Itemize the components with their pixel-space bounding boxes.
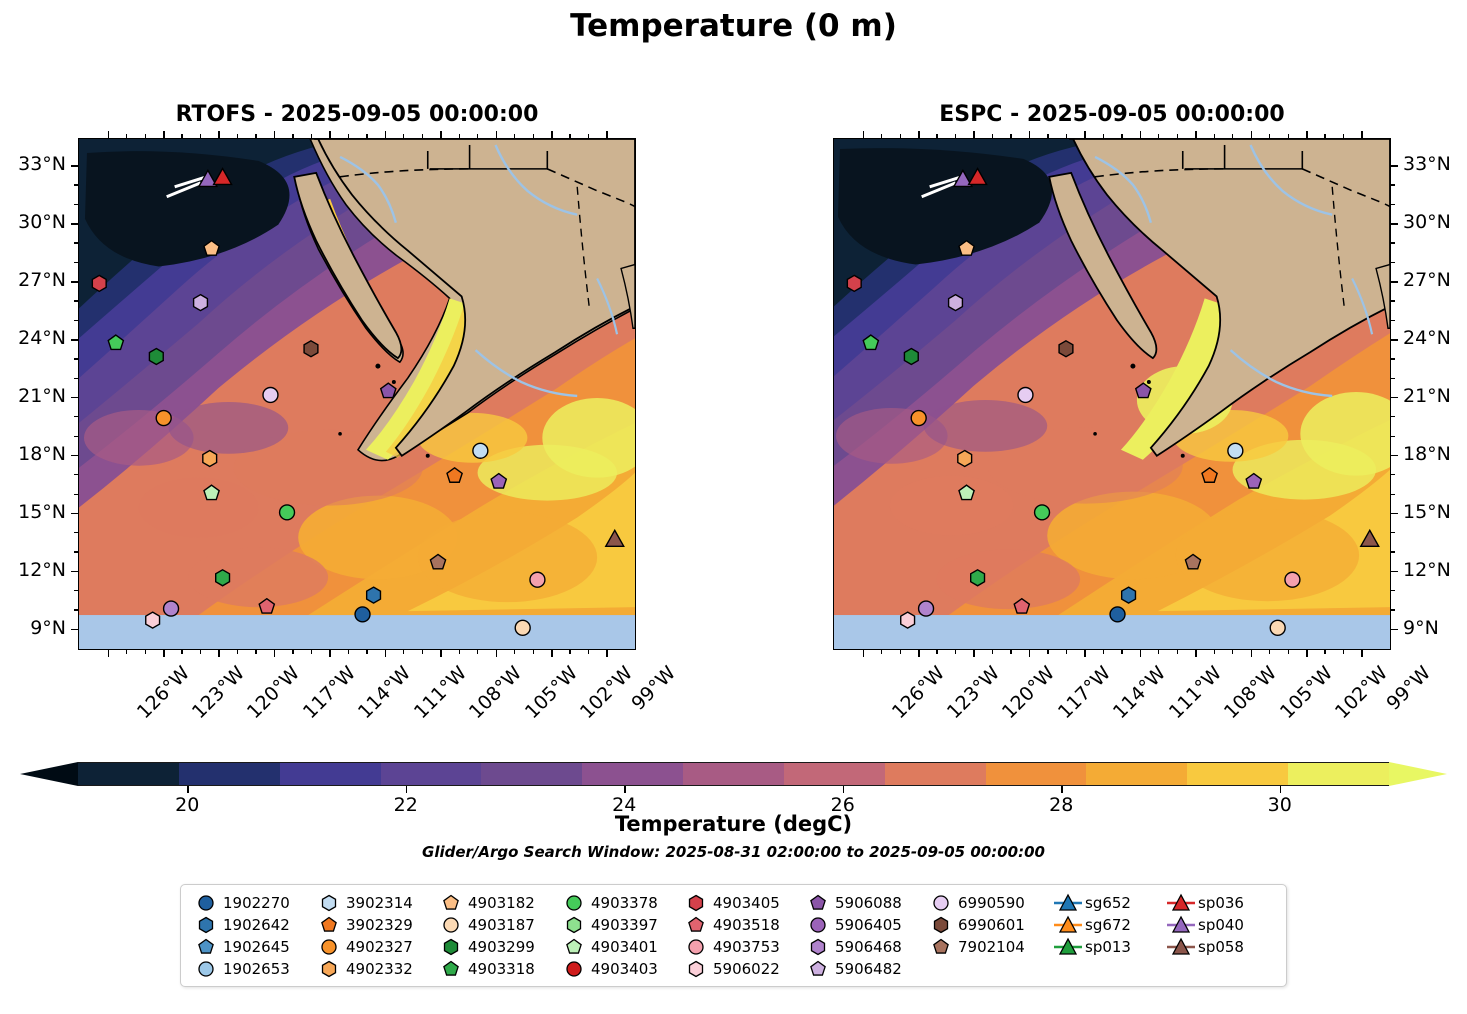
ytick-minor	[1391, 474, 1395, 475]
legend-entry-4903378[interactable]: 4903378	[559, 892, 658, 914]
xtick-minor	[126, 134, 127, 138]
xtick-minor	[1232, 650, 1233, 654]
legend-entry-5906468[interactable]: 5906468	[803, 936, 902, 958]
ytick-label: 33°N	[0, 153, 66, 175]
xtick-minor	[569, 134, 570, 138]
xtick-minor	[403, 650, 404, 654]
panel-rtofs: RTOFS - 2025-09-05 00:00:00	[78, 138, 636, 650]
legend-entry-4902332[interactable]: 4902332	[314, 958, 413, 980]
legend-entry-sp013[interactable]: sp013	[1053, 936, 1131, 958]
xtick-minor	[200, 134, 201, 138]
xtick-label: 111°W	[1165, 662, 1226, 723]
ytick-label: 21°N	[1403, 385, 1451, 407]
xtick-label: 114°W	[1109, 662, 1170, 723]
xtick-minor	[477, 650, 478, 654]
legend-entry-sg672[interactable]: sg672	[1053, 914, 1131, 936]
xtick-major	[973, 650, 975, 657]
xtick-label: 108°W	[465, 662, 526, 723]
legend-column: 4903378490339749034014903403	[559, 892, 658, 980]
ytick-minor	[1391, 494, 1395, 495]
xtick-label: 126°W	[887, 662, 948, 723]
ytick-minor	[1391, 590, 1395, 591]
legend-column: sp036sp040sp058	[1166, 892, 1244, 958]
legend-marker-icon	[559, 914, 589, 936]
legend-entry-1902653[interactable]: 1902653	[191, 958, 290, 980]
xtick-minor	[936, 134, 937, 138]
xtick-minor	[955, 134, 956, 138]
legend-marker-icon	[681, 936, 711, 958]
xtick-major	[274, 131, 276, 138]
legend-label: sg672	[1083, 916, 1131, 934]
legend-column: 4903182490318749032994903318	[436, 892, 535, 980]
legend-entry-5906022[interactable]: 5906022	[681, 958, 780, 980]
legend-marker-icon	[1166, 936, 1196, 958]
ytick-major	[1391, 513, 1398, 515]
xtick-minor	[311, 650, 312, 654]
legend-label: 4902332	[344, 960, 413, 978]
ytick-major	[1391, 629, 1398, 631]
xtick-minor	[255, 650, 256, 654]
ytick-label: 15°N	[1403, 501, 1451, 523]
legend-marker-icon	[803, 936, 833, 958]
ytick-major	[71, 223, 78, 225]
ytick-label: 15°N	[0, 501, 66, 523]
xtick-label: 123°W	[943, 662, 1004, 723]
xtick-minor	[1066, 134, 1067, 138]
legend-column: sg652sg672sp013	[1053, 892, 1131, 958]
legend-marker-icon	[191, 958, 221, 980]
xtick-minor	[237, 650, 238, 654]
xtick-minor	[422, 134, 423, 138]
xtick-minor	[533, 650, 534, 654]
colorbar-outline	[78, 762, 1389, 786]
xtick-minor	[459, 134, 460, 138]
xtick-major	[606, 131, 608, 138]
legend-entry-sp058[interactable]: sp058	[1166, 936, 1244, 958]
ytick-major	[71, 571, 78, 573]
legend-entry-3902329[interactable]: 3902329	[314, 914, 413, 936]
xtick-major	[1361, 650, 1363, 657]
ytick-minor	[1391, 609, 1395, 610]
xtick-minor	[1010, 650, 1011, 654]
legend-label: 1902645	[221, 938, 290, 956]
xtick-major	[496, 131, 498, 138]
legend-column: 5906088590640559064685906482	[803, 892, 902, 980]
panel-title-rtofs: RTOFS - 2025-09-05 00:00:00	[78, 102, 636, 127]
xtick-major	[918, 131, 920, 138]
ytick-minor	[1391, 204, 1395, 205]
ytick-minor	[1391, 300, 1395, 301]
colorbar-extend-low	[20, 762, 78, 786]
legend-marker-icon	[681, 958, 711, 980]
xtick-major	[218, 131, 220, 138]
colorbar-tick	[406, 786, 407, 793]
legend-marker-icon	[314, 914, 344, 936]
panel-espc: ESPC - 2025-09-05 00:00:00	[833, 138, 1391, 650]
ytick-label: 12°N	[1403, 559, 1451, 581]
xtick-major	[1029, 131, 1031, 138]
map-raster-espc	[834, 139, 1390, 649]
xtick-major	[108, 131, 110, 138]
legend-marker-icon	[926, 936, 956, 958]
xtick-minor	[1010, 134, 1011, 138]
ytick-label: 21°N	[0, 385, 66, 407]
colorbar-tick	[843, 786, 844, 793]
xtick-minor	[881, 134, 882, 138]
xtick-minor	[1121, 650, 1122, 654]
xtick-major	[1195, 650, 1197, 657]
xtick-minor	[1177, 134, 1178, 138]
xtick-minor	[348, 134, 349, 138]
legend-marker-icon	[1053, 892, 1083, 914]
xtick-minor	[1214, 650, 1215, 654]
ytick-major	[71, 165, 78, 167]
xtick-major	[163, 650, 165, 657]
colorbar-label: Temperature (degC)	[0, 812, 1467, 836]
legend-label: sg652	[1083, 894, 1131, 912]
ytick-minor	[74, 474, 78, 475]
legend-entry-4903405[interactable]: 4903405	[681, 892, 780, 914]
xtick-minor	[992, 134, 993, 138]
legend-marker-icon	[803, 914, 833, 936]
xtick-major	[218, 650, 220, 657]
legend-label: 1902642	[221, 916, 290, 934]
legend-marker-icon	[803, 958, 833, 980]
legend-entry-5906088[interactable]: 5906088	[803, 892, 902, 914]
ytick-label: 27°N	[1403, 269, 1451, 291]
legend-marker-icon	[803, 892, 833, 914]
xtick-minor	[1288, 134, 1289, 138]
colorbar: 202224262830	[0, 757, 1467, 857]
legend-entry-4903401[interactable]: 4903401	[559, 936, 658, 958]
xtick-minor	[936, 650, 937, 654]
xtick-minor	[588, 134, 589, 138]
ytick-major	[71, 629, 78, 631]
ytick-minor	[1391, 532, 1395, 533]
ytick-label: 24°N	[0, 327, 66, 349]
xtick-label: 102°W	[1331, 662, 1392, 723]
ytick-minor	[74, 320, 78, 321]
legend-entry-4903299[interactable]: 4903299	[436, 936, 535, 958]
ytick-label: 33°N	[1403, 153, 1451, 175]
legend-entry-sp040[interactable]: sp040	[1166, 914, 1244, 936]
legend-column: 699059069906017902104	[926, 892, 1025, 958]
ytick-major	[1391, 571, 1398, 573]
ytick-minor	[1391, 184, 1395, 185]
legend-entry-4903397[interactable]: 4903397	[559, 914, 658, 936]
ytick-minor	[74, 532, 78, 533]
xtick-minor	[992, 650, 993, 654]
xtick-minor	[514, 650, 515, 654]
xtick-minor	[1121, 134, 1122, 138]
ytick-minor	[1391, 242, 1395, 243]
xtick-major	[163, 131, 165, 138]
ytick-major	[71, 339, 78, 341]
xtick-minor	[1177, 650, 1178, 654]
xtick-major	[108, 650, 110, 657]
xtick-major	[440, 131, 442, 138]
xtick-minor	[1232, 134, 1233, 138]
figure-title: Temperature (0 m)	[0, 8, 1467, 44]
legend-label: 5906482	[833, 960, 902, 978]
legend-marker-icon	[1053, 914, 1083, 936]
xtick-minor	[588, 650, 589, 654]
legend-label: sp040	[1196, 916, 1244, 934]
legend-entry-4903753[interactable]: 4903753	[681, 936, 780, 958]
xtick-major	[1361, 131, 1363, 138]
legend-label: 6990601	[956, 916, 1025, 934]
legend-label: 4903518	[711, 916, 780, 934]
xtick-label: 117°W	[299, 662, 360, 723]
xtick-label: 105°W	[520, 662, 581, 723]
legend-entry-1902270[interactable]: 1902270	[191, 892, 290, 914]
xtick-label: 117°W	[1054, 662, 1115, 723]
ytick-minor	[1391, 262, 1395, 263]
xtick-label: 105°W	[1275, 662, 1336, 723]
ytick-major	[1391, 281, 1398, 283]
colorbar-tick	[1061, 786, 1062, 793]
ytick-major	[1391, 165, 1398, 167]
legend-label: 4903401	[589, 938, 658, 956]
xtick-label: 102°W	[576, 662, 637, 723]
xtick-label: 120°W	[243, 662, 304, 723]
xtick-major	[1306, 650, 1308, 657]
legend-label: 1902653	[221, 960, 290, 978]
legend-label: 5906088	[833, 894, 902, 912]
legend-entry-7902104[interactable]: 7902104	[926, 936, 1025, 958]
legend-entry-4903403[interactable]: 4903403	[559, 958, 658, 980]
ytick-label: 18°N	[0, 443, 66, 465]
ytick-major	[71, 455, 78, 457]
xtick-major	[1251, 650, 1253, 657]
xtick-major	[329, 131, 331, 138]
xtick-minor	[459, 650, 460, 654]
ytick-major	[71, 397, 78, 399]
platform-legend[interactable]: 1902270190264219026451902653390231439023…	[180, 884, 1287, 987]
legend-marker-icon	[681, 892, 711, 914]
xtick-major	[440, 650, 442, 657]
legend-entry-3902314[interactable]: 3902314	[314, 892, 413, 914]
legend-entry-5906405[interactable]: 5906405	[803, 914, 902, 936]
xtick-minor	[881, 650, 882, 654]
legend-column: 4903405490351849037535906022	[681, 892, 780, 980]
colorbar-extend-high	[1389, 762, 1447, 786]
legend-marker-icon	[314, 892, 344, 914]
xtick-minor	[145, 134, 146, 138]
ytick-minor	[74, 204, 78, 205]
xtick-minor	[255, 134, 256, 138]
panel-title-espc: ESPC - 2025-09-05 00:00:00	[833, 102, 1391, 127]
xtick-major	[918, 650, 920, 657]
xtick-minor	[1324, 134, 1325, 138]
legend-label: 4903403	[589, 960, 658, 978]
xtick-minor	[1103, 650, 1104, 654]
xtick-major	[1195, 131, 1197, 138]
xtick-major	[1306, 131, 1308, 138]
legend-entry-4903187[interactable]: 4903187	[436, 914, 535, 936]
legend-label: 5906468	[833, 938, 902, 956]
xtick-major	[1084, 650, 1086, 657]
xtick-label: 123°W	[188, 662, 249, 723]
ytick-minor	[1391, 378, 1395, 379]
xtick-minor	[292, 134, 293, 138]
ytick-minor	[1391, 436, 1395, 437]
legend-label: 1902270	[221, 894, 290, 912]
legend-label: 4903318	[466, 960, 535, 978]
xtick-minor	[1158, 650, 1159, 654]
legend-marker-icon	[436, 958, 466, 980]
xtick-minor	[1047, 134, 1048, 138]
xtick-minor	[1158, 134, 1159, 138]
legend-marker-icon	[436, 936, 466, 958]
xtick-minor	[1343, 650, 1344, 654]
xtick-minor	[181, 134, 182, 138]
ytick-major	[1391, 339, 1398, 341]
legend-entry-4903518[interactable]: 4903518	[681, 914, 780, 936]
legend-label: 4903378	[589, 894, 658, 912]
xtick-major	[496, 650, 498, 657]
legend-label: sp013	[1083, 938, 1131, 956]
xtick-minor	[1288, 650, 1289, 654]
legend-label: 6990590	[956, 894, 1025, 912]
xtick-minor	[1103, 134, 1104, 138]
xtick-minor	[1269, 134, 1270, 138]
ytick-minor	[74, 242, 78, 243]
legend-marker-icon	[681, 914, 711, 936]
map-rtofs[interactable]	[78, 138, 636, 650]
legend-entry-sg652[interactable]: sg652	[1053, 892, 1131, 914]
xtick-major	[274, 650, 276, 657]
xtick-minor	[900, 650, 901, 654]
ytick-label: 9°N	[1403, 617, 1439, 639]
map-raster-rtofs	[79, 139, 635, 649]
xtick-major	[606, 650, 608, 657]
ytick-minor	[1391, 551, 1395, 552]
xtick-minor	[366, 134, 367, 138]
xtick-minor	[126, 650, 127, 654]
legend-marker-icon	[436, 892, 466, 914]
xtick-minor	[237, 134, 238, 138]
legend-marker-icon	[1166, 892, 1196, 914]
legend-label: 4903299	[466, 938, 535, 956]
legend-marker-icon	[314, 936, 344, 958]
xtick-major	[1084, 131, 1086, 138]
xtick-minor	[1066, 650, 1067, 654]
legend-entry-6990601[interactable]: 6990601	[926, 914, 1025, 936]
map-espc[interactable]	[833, 138, 1391, 650]
xtick-major	[863, 131, 865, 138]
legend-marker-icon	[1053, 936, 1083, 958]
xtick-label: 114°W	[354, 662, 415, 723]
xtick-minor	[422, 650, 423, 654]
legend-marker-icon	[926, 892, 956, 914]
ytick-major	[71, 513, 78, 515]
legend-entry-sp036[interactable]: sp036	[1166, 892, 1244, 914]
ytick-minor	[74, 378, 78, 379]
ytick-label: 30°N	[1403, 211, 1451, 233]
xtick-major	[329, 650, 331, 657]
xtick-label: 99°W	[1383, 662, 1436, 715]
legend-marker-icon	[191, 914, 221, 936]
legend-entry-4902327[interactable]: 4902327	[314, 936, 413, 958]
figure-root: Temperature (0 m) RTOFS - 2025-09-05 00:…	[0, 0, 1467, 1014]
ytick-minor	[1391, 358, 1395, 359]
ytick-minor	[74, 184, 78, 185]
xtick-label: 126°W	[132, 662, 193, 723]
ytick-minor	[74, 262, 78, 263]
xtick-minor	[955, 650, 956, 654]
legend-marker-icon	[191, 936, 221, 958]
legend-entry-6990590[interactable]: 6990590	[926, 892, 1025, 914]
xtick-major	[1140, 650, 1142, 657]
ytick-major	[1391, 223, 1398, 225]
xtick-label: 108°W	[1220, 662, 1281, 723]
xtick-minor	[1269, 650, 1270, 654]
xtick-major	[551, 650, 553, 657]
ytick-minor	[74, 358, 78, 359]
xtick-minor	[533, 134, 534, 138]
xtick-minor	[1214, 134, 1215, 138]
legend-label: 4903753	[711, 938, 780, 956]
xtick-minor	[181, 650, 182, 654]
xtick-minor	[900, 134, 901, 138]
legend-marker-icon	[436, 914, 466, 936]
xtick-label: 111°W	[410, 662, 471, 723]
legend-marker-icon	[926, 914, 956, 936]
legend-label: 4903397	[589, 916, 658, 934]
ytick-minor	[1391, 416, 1395, 417]
xtick-minor	[403, 134, 404, 138]
xtick-minor	[292, 650, 293, 654]
legend-marker-icon	[191, 892, 221, 914]
colorbar-tick	[624, 786, 625, 793]
legend-marker-icon	[1166, 914, 1196, 936]
ytick-major	[1391, 397, 1398, 399]
legend-label: 4903187	[466, 916, 535, 934]
legend-marker-icon	[559, 892, 589, 914]
legend-label: sp058	[1196, 938, 1244, 956]
legend-column: 1902270190264219026451902653	[191, 892, 290, 980]
xtick-major	[973, 131, 975, 138]
legend-column: 3902314390232949023274902332	[314, 892, 413, 980]
legend-label: 5906022	[711, 960, 780, 978]
legend-label: 4902327	[344, 938, 413, 956]
ytick-label: 24°N	[1403, 327, 1451, 349]
ytick-minor	[74, 551, 78, 552]
ytick-major	[1391, 455, 1398, 457]
legend-entry-4903318[interactable]: 4903318	[436, 958, 535, 980]
xtick-major	[1029, 650, 1031, 657]
legend-entry-1902645[interactable]: 1902645	[191, 936, 290, 958]
legend-label: 5906405	[833, 916, 902, 934]
xtick-minor	[348, 650, 349, 654]
xtick-label: 120°W	[998, 662, 1059, 723]
xtick-minor	[1324, 650, 1325, 654]
legend-entry-1902642[interactable]: 1902642	[191, 914, 290, 936]
legend-label: 4903405	[711, 894, 780, 912]
xtick-minor	[1047, 650, 1048, 654]
legend-label: 7902104	[956, 938, 1025, 956]
legend-entry-4903182[interactable]: 4903182	[436, 892, 535, 914]
xtick-major	[385, 131, 387, 138]
ytick-label: 18°N	[1403, 443, 1451, 465]
xtick-minor	[145, 650, 146, 654]
legend-label: 3902329	[344, 916, 413, 934]
legend-entry-5906482[interactable]: 5906482	[803, 958, 902, 980]
ytick-minor	[1391, 320, 1395, 321]
ytick-label: 9°N	[0, 617, 66, 639]
ytick-minor	[74, 436, 78, 437]
